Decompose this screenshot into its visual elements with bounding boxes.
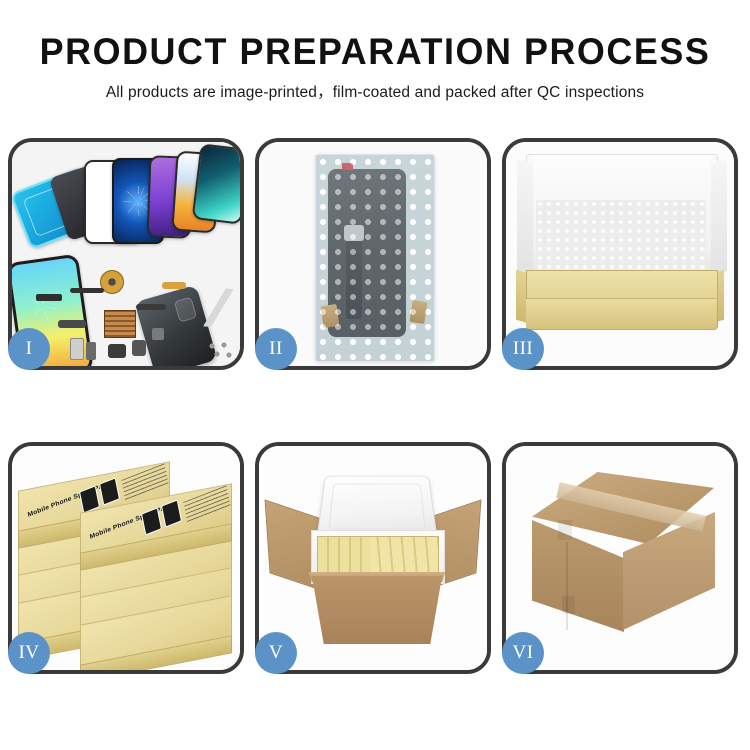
- step-1-image: [12, 142, 240, 366]
- step-panel-5: V: [255, 442, 491, 674]
- step-panel-1: I: [8, 138, 244, 370]
- small-part-b: [108, 344, 126, 358]
- scene-open-box-with-foam: [506, 142, 734, 366]
- scene-sealed-carton: [506, 446, 734, 670]
- white-foam-sheet: [536, 200, 706, 272]
- lcd-connector: [344, 225, 364, 241]
- packed-gold-boxes: [317, 536, 439, 578]
- lcd-flex-cable: [346, 233, 362, 319]
- step-badge-5: V: [255, 632, 297, 674]
- step-badge-6: VI: [502, 632, 544, 674]
- step-badge-3: III: [502, 328, 544, 370]
- adhesive-tape-left: [321, 304, 340, 328]
- page-title: PRODUCT PREPARATION PROCESS: [11, 30, 739, 74]
- step-2-image: [259, 142, 487, 366]
- teal-screen-phone: [192, 143, 240, 225]
- step-6-image: [506, 446, 734, 670]
- shield-grid-component: [104, 310, 136, 338]
- carton-body: [303, 576, 451, 644]
- small-part-e: [152, 328, 164, 340]
- box-stack: Mobile Phone Spare Parts Mobile Phone Sp…: [18, 464, 240, 664]
- box-spec-lines-front: [183, 485, 230, 523]
- step-badge-4: IV: [8, 632, 50, 674]
- small-part-c: [132, 340, 146, 356]
- step-panel-2: II: [255, 138, 491, 370]
- sim-tray: [70, 338, 84, 360]
- carton-tab-lower: [562, 596, 575, 614]
- gold-box-front: [526, 298, 716, 329]
- step-5-image: [259, 446, 487, 670]
- page-subtitle: All products are image-printed，film-coat…: [0, 80, 750, 102]
- step-3-image: [506, 142, 734, 366]
- step-panel-4: Mobile Phone Spare Parts Mobile Phone Sp…: [8, 442, 244, 674]
- flex-cable-b: [162, 282, 186, 289]
- carton-tab-upper: [558, 520, 572, 540]
- step-panel-6: VI: [502, 442, 738, 674]
- process-steps-grid: I II: [8, 138, 742, 674]
- scene-phone-parts: [12, 142, 240, 366]
- scene-bubble-wrapped-screen: [259, 142, 487, 366]
- repair-tool: [196, 286, 240, 331]
- small-part-d: [86, 342, 96, 360]
- earpiece-mesh: [36, 294, 62, 301]
- flex-cable-d: [58, 320, 86, 328]
- lcd-screen-assembly: [328, 169, 406, 337]
- flex-cable-a: [70, 288, 104, 293]
- bubble-wrap-bag: [315, 154, 435, 362]
- header: PRODUCT PREPARATION PROCESS All products…: [0, 30, 750, 102]
- step-4-image: Mobile Phone Spare Parts Mobile Phone Sp…: [12, 446, 240, 670]
- step-badge-1: I: [8, 328, 50, 370]
- box-phone-graphic-front-2: [161, 499, 182, 527]
- screws-group: [208, 342, 234, 360]
- adhesive-tape-right: [409, 300, 427, 324]
- box-spec-lines-rear: [121, 463, 168, 501]
- scene-stacked-retail-boxes: Mobile Phone Spare Parts Mobile Phone Sp…: [12, 446, 240, 670]
- red-qc-label: [342, 163, 353, 170]
- scene-carton-with-foam-cooler: [259, 446, 487, 670]
- step-panel-3: III: [502, 138, 738, 370]
- carton-corner-seam: [566, 542, 568, 630]
- step-badge-2: II: [255, 328, 297, 370]
- box-phone-graphic-rear-2: [99, 477, 120, 505]
- infographic-page: PRODUCT PREPARATION PROCESS All products…: [0, 0, 750, 750]
- flex-cable-c: [136, 304, 166, 310]
